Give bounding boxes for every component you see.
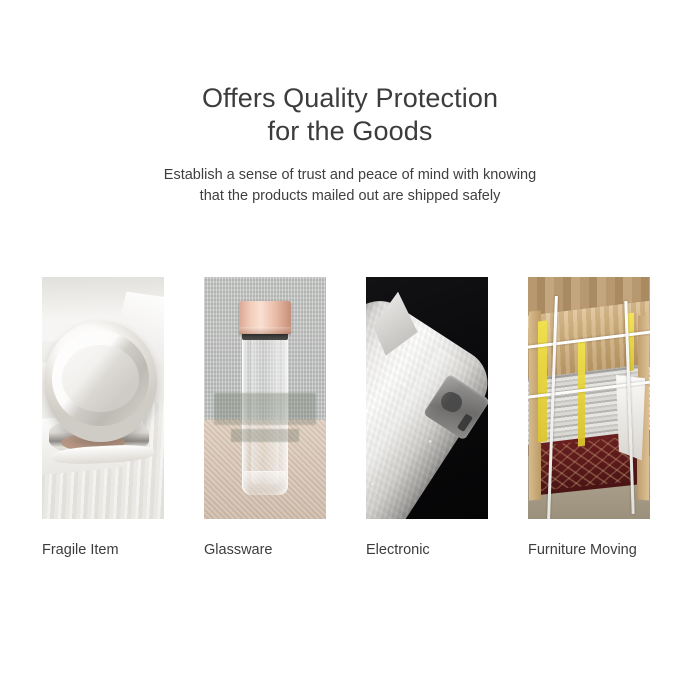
bottle-printed-subtext bbox=[231, 429, 299, 441]
bottle-printed-label bbox=[214, 393, 316, 424]
page-title-line-2: for the Goods bbox=[0, 115, 700, 148]
caption-furniture-moving: Furniture Moving bbox=[528, 540, 650, 560]
photo-caption-row: Fragile Item Glassware Electronic Furnit… bbox=[42, 540, 658, 560]
caption-electronic: Electronic bbox=[366, 540, 488, 560]
page-subtitle-line-1: Establish a sense of trust and peace of … bbox=[0, 165, 700, 186]
heading-block: Offers Quality Protection for the Goods … bbox=[0, 82, 700, 207]
furniture-moving-photo bbox=[528, 277, 650, 519]
photo-card-glassware bbox=[204, 277, 326, 519]
rose-gold-bottle-cap bbox=[239, 301, 291, 334]
product-photo-grid bbox=[42, 277, 658, 519]
caption-glassware: Glassware bbox=[204, 540, 326, 560]
yellow-tape-1 bbox=[538, 320, 547, 442]
promo-banner: Offers Quality Protection for the Goods … bbox=[0, 0, 700, 700]
fragile-item-photo bbox=[42, 277, 164, 519]
photo-card-furniture-moving bbox=[528, 277, 650, 519]
caption-fragile-item: Fragile Item bbox=[42, 540, 164, 560]
page-title-line-1: Offers Quality Protection bbox=[0, 82, 700, 115]
bottle-base bbox=[244, 471, 286, 491]
page-subtitle-line-2: that the products mailed out are shipped… bbox=[0, 186, 700, 207]
page-subtitle: Establish a sense of trust and peace of … bbox=[0, 165, 700, 207]
page-title: Offers Quality Protection for the Goods bbox=[0, 82, 700, 148]
yellow-tape-2 bbox=[578, 339, 585, 446]
electronic-photo bbox=[366, 277, 488, 519]
glassware-photo bbox=[204, 277, 326, 519]
photo-card-electronic bbox=[366, 277, 488, 519]
white-ceramic-bowl bbox=[44, 321, 156, 442]
photo-card-fragile-item bbox=[42, 277, 164, 519]
